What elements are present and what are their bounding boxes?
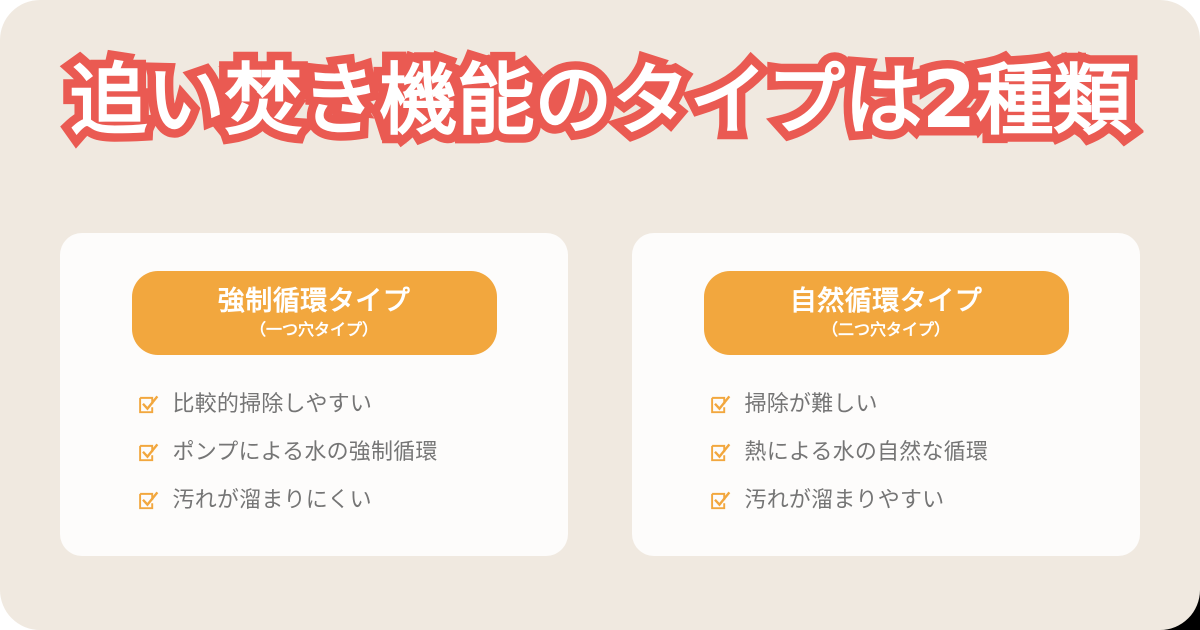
list-item-label: 掃除が難しい [745,392,878,418]
type-card-row: 強制循環タイプ （一つ穴タイプ） 比較的掃除しやすい [60,233,1140,556]
infographic-page: 追い焚き機能のタイプは2種類 強制循環タイプ （一つ穴タイプ） 比較的掃除しやす… [0,0,1200,630]
checkbox-checked-icon [709,442,731,464]
list-item-label: 汚れが溜まりやすい [745,488,945,514]
checkbox-checked-icon [709,490,731,512]
list-item-label: 熱による水の自然な循環 [745,440,989,466]
type-card-natural-circulation: 自然循環タイプ （二つ穴タイプ） 掃除が難しい [632,233,1140,556]
list-item: 掃除が難しい [704,381,1069,429]
type-card-forced-circulation: 強制循環タイプ （一つ穴タイプ） 比較的掃除しやすい [60,233,568,556]
badge-title: 自然循環タイプ [790,287,983,317]
list-item-label: 比較的掃除しやすい [173,392,373,418]
badge-subtitle: （一つ穴タイプ） [250,320,378,339]
page-title-text: 追い焚き機能のタイプは2種類 [69,62,1130,140]
card-badge: 自然循環タイプ （二つ穴タイプ） [704,271,1069,355]
infographic-stage: 追い焚き機能のタイプは2種類 強制循環タイプ （一つ穴タイプ） 比較的掃除しやす… [0,0,1200,630]
list-item: ポンプによる水の強制循環 [132,429,497,477]
list-item: 汚れが溜まりやすい [704,477,1069,525]
badge-title: 強制循環タイプ [218,287,411,317]
feature-list: 比較的掃除しやすい ポンプによる水の強制循環 [132,381,497,525]
badge-subtitle: （二つ穴タイプ） [822,320,950,339]
checkbox-checked-icon [709,394,731,416]
checkbox-checked-icon [137,394,159,416]
page-title: 追い焚き機能のタイプは2種類 [0,62,1200,140]
checkbox-checked-icon [137,442,159,464]
feature-list: 掃除が難しい 熱による水の自然な循環 汚 [704,381,1069,525]
list-item: 汚れが溜まりにくい [132,477,497,525]
list-item: 比較的掃除しやすい [132,381,497,429]
list-item-label: ポンプによる水の強制循環 [173,440,438,466]
checkbox-checked-icon [137,490,159,512]
list-item-label: 汚れが溜まりにくい [173,488,372,514]
card-badge: 強制循環タイプ （一つ穴タイプ） [132,271,497,355]
list-item: 熱による水の自然な循環 [704,429,1069,477]
